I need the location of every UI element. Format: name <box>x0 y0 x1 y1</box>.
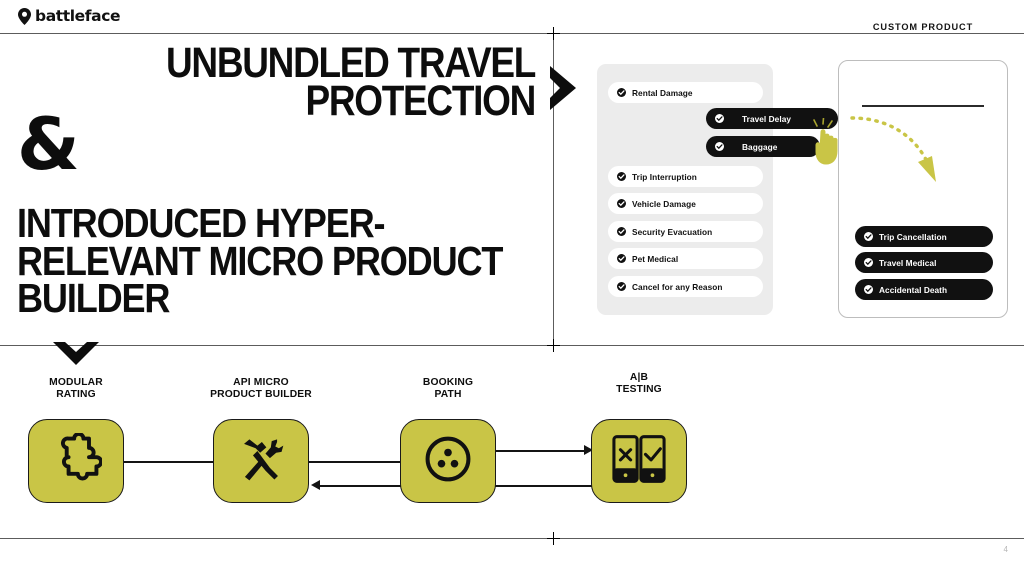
custom-product-item-label: Travel Medical <box>879 258 936 268</box>
option-pill-pet-medical[interactable]: Pet Medical <box>608 248 763 269</box>
check-circle-icon <box>617 254 626 263</box>
option-label: Security Evacuation <box>632 227 712 237</box>
option-pill-security-evacuation[interactable]: Security Evacuation <box>608 221 763 242</box>
guide-line-middle <box>0 345 1024 346</box>
flow-label-api-micro-product-builder: API MICRO PRODUCT BUILDER <box>181 377 341 400</box>
option-label: Pet Medical <box>632 254 678 264</box>
custom-product-pill-accidental-death[interactable]: Accidental Death <box>855 279 993 300</box>
check-circle-icon <box>864 285 873 294</box>
flow-tile-ab-testing[interactable] <box>591 419 687 503</box>
option-pill-rental-damage[interactable]: Rental Damage <box>608 82 763 103</box>
chevron-down-icon <box>52 341 100 367</box>
connector-rating-to-builder <box>124 461 213 463</box>
dotted-curved-arrow-icon <box>848 112 958 192</box>
option-label: Rental Damage <box>632 88 693 98</box>
flow-label-ab-testing: A|B TESTING <box>580 372 698 395</box>
check-circle-icon <box>617 227 626 236</box>
option-label: Baggage <box>742 142 777 152</box>
check-circle-icon <box>617 282 626 291</box>
option-pill-baggage[interactable]: Baggage <box>706 136 820 157</box>
custom-product-item-label: Accidental Death <box>879 285 947 295</box>
check-circle-icon <box>617 88 626 97</box>
custom-product-title: CUSTOM PRODUCT <box>838 22 1008 32</box>
page-title-top: UNBUNDLED TRAVEL PROTECTION <box>127 45 536 121</box>
puzzle-piece-icon <box>50 433 102 490</box>
custom-product-pill-travel-medical[interactable]: Travel Medical <box>855 252 993 273</box>
guide-line-bottom <box>0 538 1024 539</box>
check-circle-icon <box>864 232 873 241</box>
chevron-right-icon <box>546 64 582 112</box>
brand-name: battleface <box>35 7 120 25</box>
guide-line-top <box>0 33 1024 34</box>
custom-product-item-label: Trip Cancellation <box>879 232 947 242</box>
location-pin-icon <box>18 8 31 25</box>
custom-product-divider <box>862 105 984 107</box>
check-circle-icon <box>715 142 724 151</box>
option-label: Travel Delay <box>742 114 791 124</box>
guide-crosshair-top <box>547 27 560 40</box>
hand-pointer-cursor-icon <box>810 118 850 174</box>
connector-builder-to-booking <box>309 461 400 463</box>
flow-tile-api-micro-product-builder[interactable] <box>213 419 309 503</box>
brand-logo: battleface <box>18 7 120 25</box>
ampersand-glyph: & <box>17 108 80 180</box>
option-label: Trip Interruption <box>632 172 697 182</box>
option-label: Vehicle Damage <box>632 199 696 209</box>
connector-booking-to-ab <box>496 450 586 452</box>
flow-tile-booking-path[interactable] <box>400 419 496 503</box>
flow-label-modular-rating: MODULAR RATING <box>15 377 137 400</box>
guide-crosshair-bottom <box>547 532 560 545</box>
option-label: Cancel for any Reason <box>632 282 723 292</box>
check-circle-icon <box>617 172 626 181</box>
booking-circle-dots-icon <box>422 433 474 490</box>
check-circle-icon <box>715 114 724 123</box>
check-circle-icon <box>617 199 626 208</box>
page-number: 4 <box>1004 545 1008 554</box>
guide-crosshair-middle <box>547 339 560 352</box>
option-pill-cancel-for-any-reason[interactable]: Cancel for any Reason <box>608 276 763 297</box>
arrowhead-ab-return <box>311 480 320 490</box>
check-circle-icon <box>864 258 873 267</box>
ab-testing-phones-icon <box>610 433 668 490</box>
option-pill-vehicle-damage[interactable]: Vehicle Damage <box>608 193 763 214</box>
hammer-wrench-icon <box>236 434 286 489</box>
flow-tile-modular-rating[interactable] <box>28 419 124 503</box>
flow-label-booking-path: BOOKING PATH <box>389 377 507 400</box>
custom-product-pill-trip-cancellation[interactable]: Trip Cancellation <box>855 226 993 247</box>
page-title-bottom: INTRODUCED HYPER- RELEVANT MICRO PRODUCT… <box>17 205 563 318</box>
slide-canvas: battleface UNBUNDLED TRAVEL PROTECTION &… <box>0 0 1024 572</box>
option-pill-trip-interruption[interactable]: Trip Interruption <box>608 166 763 187</box>
